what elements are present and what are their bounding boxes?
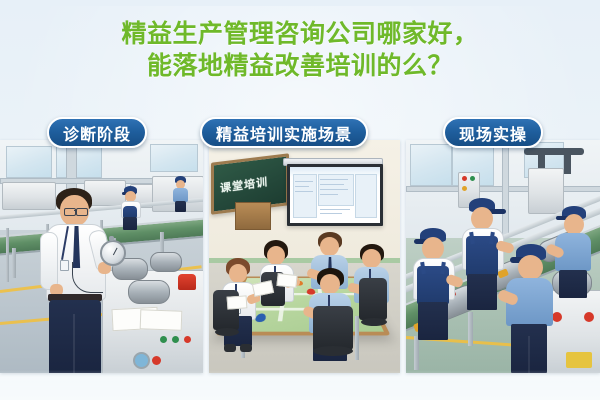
- indicator-light-red: [152, 356, 161, 365]
- indicator-light-amber: [462, 186, 467, 191]
- emergency-stop-button: [178, 274, 196, 290]
- line-worker-foreground: [502, 244, 558, 373]
- panel-training[interactable]: 课堂培训: [209, 140, 400, 373]
- consultant-figure: [38, 188, 122, 373]
- conveyor-leg: [468, 312, 473, 346]
- worker-legs: [123, 217, 137, 230]
- stopwatch-icon: [100, 240, 126, 266]
- motor-unit: [150, 252, 182, 272]
- slide-text-line: [320, 209, 350, 210]
- worker-torso: [173, 188, 188, 202]
- stopwatch-crown: [109, 236, 114, 241]
- consultant-legs: [49, 300, 101, 373]
- indicator-light-green: [172, 336, 179, 343]
- headline-line-2: 能落地精益改善培训的么？: [0, 50, 600, 82]
- slide-text-line: [295, 181, 313, 182]
- worker-legs: [175, 201, 186, 212]
- worker-head: [518, 255, 543, 280]
- poster-root: 精益生产管理咨询公司哪家好， 能落地精益改善培训的么？ 诊断阶段 精益培训实施场…: [0, 0, 600, 400]
- window-pane: [150, 144, 198, 172]
- id-badge: [60, 260, 69, 271]
- trouser-crease: [73, 314, 75, 373]
- conveyor-leg: [414, 336, 419, 370]
- duct-drop: [564, 154, 571, 174]
- indicator-light-red: [462, 176, 467, 181]
- podium: [235, 202, 271, 230]
- bottom-fade: [0, 370, 600, 400]
- window-pane: [56, 146, 102, 178]
- slide-text-line: [320, 213, 342, 214]
- scene-assembly-line: [406, 140, 600, 373]
- slide-text-line: [320, 179, 348, 180]
- glasses-bridge: [74, 210, 77, 211]
- scene-classroom-training: 课堂培训: [209, 140, 400, 373]
- panel-row: 课堂培训: [0, 140, 600, 373]
- indicator-light-red: [184, 336, 191, 343]
- indicator-light-green: [160, 336, 167, 343]
- chair-base: [313, 346, 353, 356]
- worker-head: [422, 237, 444, 260]
- emergency-stop-button: [584, 312, 594, 322]
- slide-content: [290, 167, 380, 223]
- glasses-icon: [76, 208, 88, 216]
- worksheet: [227, 295, 248, 309]
- trainee-head: [320, 237, 339, 256]
- safety-marker: [566, 352, 592, 368]
- slide-text-line: [320, 184, 344, 185]
- worker-legs: [418, 302, 448, 340]
- badge-row: 诊断阶段 精益培训实施场景 现场实操: [0, 117, 600, 149]
- chair-base: [215, 328, 239, 336]
- consultant-arm-left: [40, 232, 58, 290]
- worker-head: [564, 214, 584, 235]
- slide-text-line: [320, 194, 338, 195]
- background-worker: [170, 176, 190, 212]
- office-chair: [359, 278, 387, 320]
- motor-unit: [128, 280, 170, 304]
- trainee-head: [267, 246, 285, 265]
- worker-legs: [467, 274, 497, 310]
- trouser-crease: [528, 336, 530, 373]
- panel-diagnosis[interactable]: [0, 140, 203, 373]
- badge-training[interactable]: 精益培训实施场景: [200, 117, 368, 148]
- pressure-gauge: [133, 352, 150, 369]
- indicator-light-green: [470, 176, 475, 181]
- line-worker-right: [552, 206, 596, 298]
- window-pane: [410, 144, 452, 186]
- slide-text-line: [295, 191, 313, 192]
- conveyor-leg: [12, 248, 16, 278]
- trainee-head: [229, 264, 247, 283]
- guard-post: [6, 228, 9, 282]
- trainee-head: [362, 249, 381, 268]
- trainee-head: [320, 274, 340, 294]
- shoe: [240, 344, 252, 352]
- worksheet: [276, 273, 297, 288]
- scene-factory-diagnosis: [0, 140, 203, 373]
- slide-text-line: [295, 186, 309, 187]
- shoe: [224, 344, 236, 352]
- slide-text-line: [320, 189, 348, 190]
- overhead-duct: [524, 148, 584, 155]
- page-title: 精益生产管理咨询公司哪家好， 能落地精益改善培训的么？: [0, 18, 600, 82]
- line-worker-left: [410, 228, 458, 340]
- badge-practice[interactable]: 现场实操: [443, 117, 543, 148]
- office-chair: [313, 306, 353, 350]
- projector-screen: [287, 164, 383, 226]
- panel-practice[interactable]: [406, 140, 600, 373]
- chair-base: [361, 318, 387, 326]
- table-leg: [355, 316, 359, 360]
- worker-head: [471, 207, 493, 230]
- slide-panel: [355, 174, 377, 218]
- badge-diagnosis[interactable]: 诊断阶段: [47, 117, 147, 148]
- worker-legs: [559, 270, 587, 298]
- window-pane: [6, 146, 52, 178]
- chalkboard-text: 课堂培训: [220, 173, 269, 196]
- checklist-paper: [140, 309, 183, 330]
- headline-line-1: 精益生产管理咨询公司哪家好，: [0, 18, 600, 50]
